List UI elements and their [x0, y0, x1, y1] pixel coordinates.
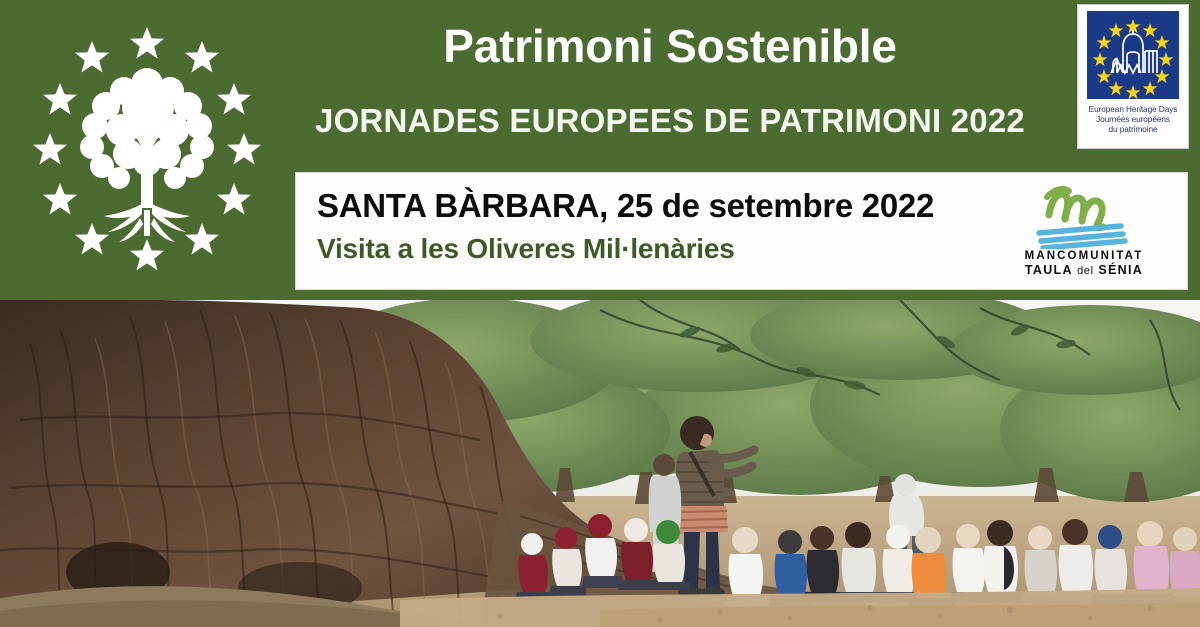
event-location-date: SANTA BÀRBARA, 25 de setembre 2022	[317, 187, 934, 225]
page-title: Patrimoni Sostenible	[300, 22, 1040, 70]
eu-caption-fr-line1: Journées européens	[1081, 114, 1185, 124]
event-info-panel: SANTA BÀRBARA, 25 de setembre 2022 Visit…	[295, 172, 1188, 290]
eu-logo-caption: European Heritage Days Journées européen…	[1081, 104, 1185, 134]
mancomunitat-taula: TAULA	[1025, 263, 1072, 277]
mancomunitat-del: del	[1077, 265, 1093, 277]
eu-flag-icon	[1087, 11, 1179, 99]
mancomunitat-logo: MANCOMUNITAT TAULA del SÉNIA	[999, 181, 1169, 285]
mancomunitat-line1: MANCOMUNITAT	[999, 250, 1169, 262]
header-band: Patrimoni Sostenible JORNADES EUROPEES D…	[0, 0, 1200, 300]
european-heritage-days-logo: European Heritage Days Journées européen…	[1077, 4, 1189, 149]
eu-caption-fr-line2: du patrimoine	[1081, 124, 1185, 134]
mancomunitat-line2: TAULA del SÉNIA	[999, 263, 1169, 277]
eu-caption-en: European Heritage Days	[1081, 104, 1185, 114]
event-photo	[0, 300, 1200, 627]
tree-emblem-icon	[18, 12, 276, 284]
mancomunitat-mark-icon	[999, 181, 1169, 249]
mancomunitat-wordmark: MANCOMUNITAT TAULA del SÉNIA	[999, 250, 1169, 277]
event-activity: Visita a les Oliveres Mil·lenàries	[317, 233, 735, 265]
poster: Patrimoni Sostenible JORNADES EUROPEES D…	[0, 0, 1200, 627]
mancomunitat-senia: SÉNIA	[1098, 263, 1143, 277]
page-subtitle: JORNADES EUROPEES DE PATRIMONI 2022	[300, 104, 1040, 139]
